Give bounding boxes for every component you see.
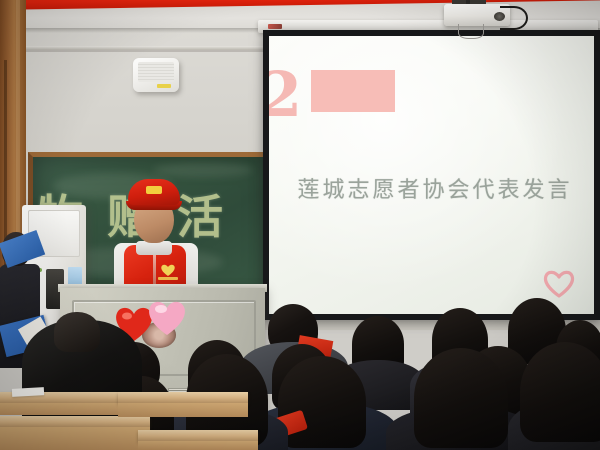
- slide-title: 莲城志愿者协会代表发言: [285, 172, 585, 204]
- desk-front-back: [0, 403, 120, 415]
- slide-number: 2: [269, 64, 302, 126]
- heart-logo-icon: [160, 263, 176, 277]
- housing-bracket: [268, 24, 282, 29]
- projection-screen: 2 莲城志愿者协会代表发言: [269, 36, 594, 314]
- seated-man-head: [54, 312, 100, 352]
- desk-row-near: [138, 430, 258, 441]
- vest-logo-text: [158, 277, 178, 280]
- student-head-front: [414, 348, 508, 448]
- wall-speaker-unit: [133, 58, 179, 92]
- classroom-photo: 牧 赠 活 2 莲城志愿者协会代表发言: [0, 0, 600, 450]
- speaker-grill-icon: [138, 62, 174, 82]
- student-head-front: [278, 356, 366, 448]
- desk-front-near: [138, 441, 258, 450]
- desk-row-front: [0, 416, 150, 427]
- cap-logo-icon: [146, 186, 162, 194]
- projector-safety-wire: [458, 24, 484, 39]
- desk-paper: [12, 387, 44, 397]
- student-head-front: [520, 342, 600, 442]
- desk-row-mid: [118, 392, 248, 403]
- speaker-person: [96, 175, 216, 295]
- slide-accent-bar: [311, 70, 395, 112]
- projector-cable: [500, 6, 528, 30]
- speaker-collar: [136, 241, 172, 255]
- desk-front-mid: [118, 403, 248, 417]
- unit-label: [157, 84, 171, 88]
- desk-front-front: [0, 427, 150, 450]
